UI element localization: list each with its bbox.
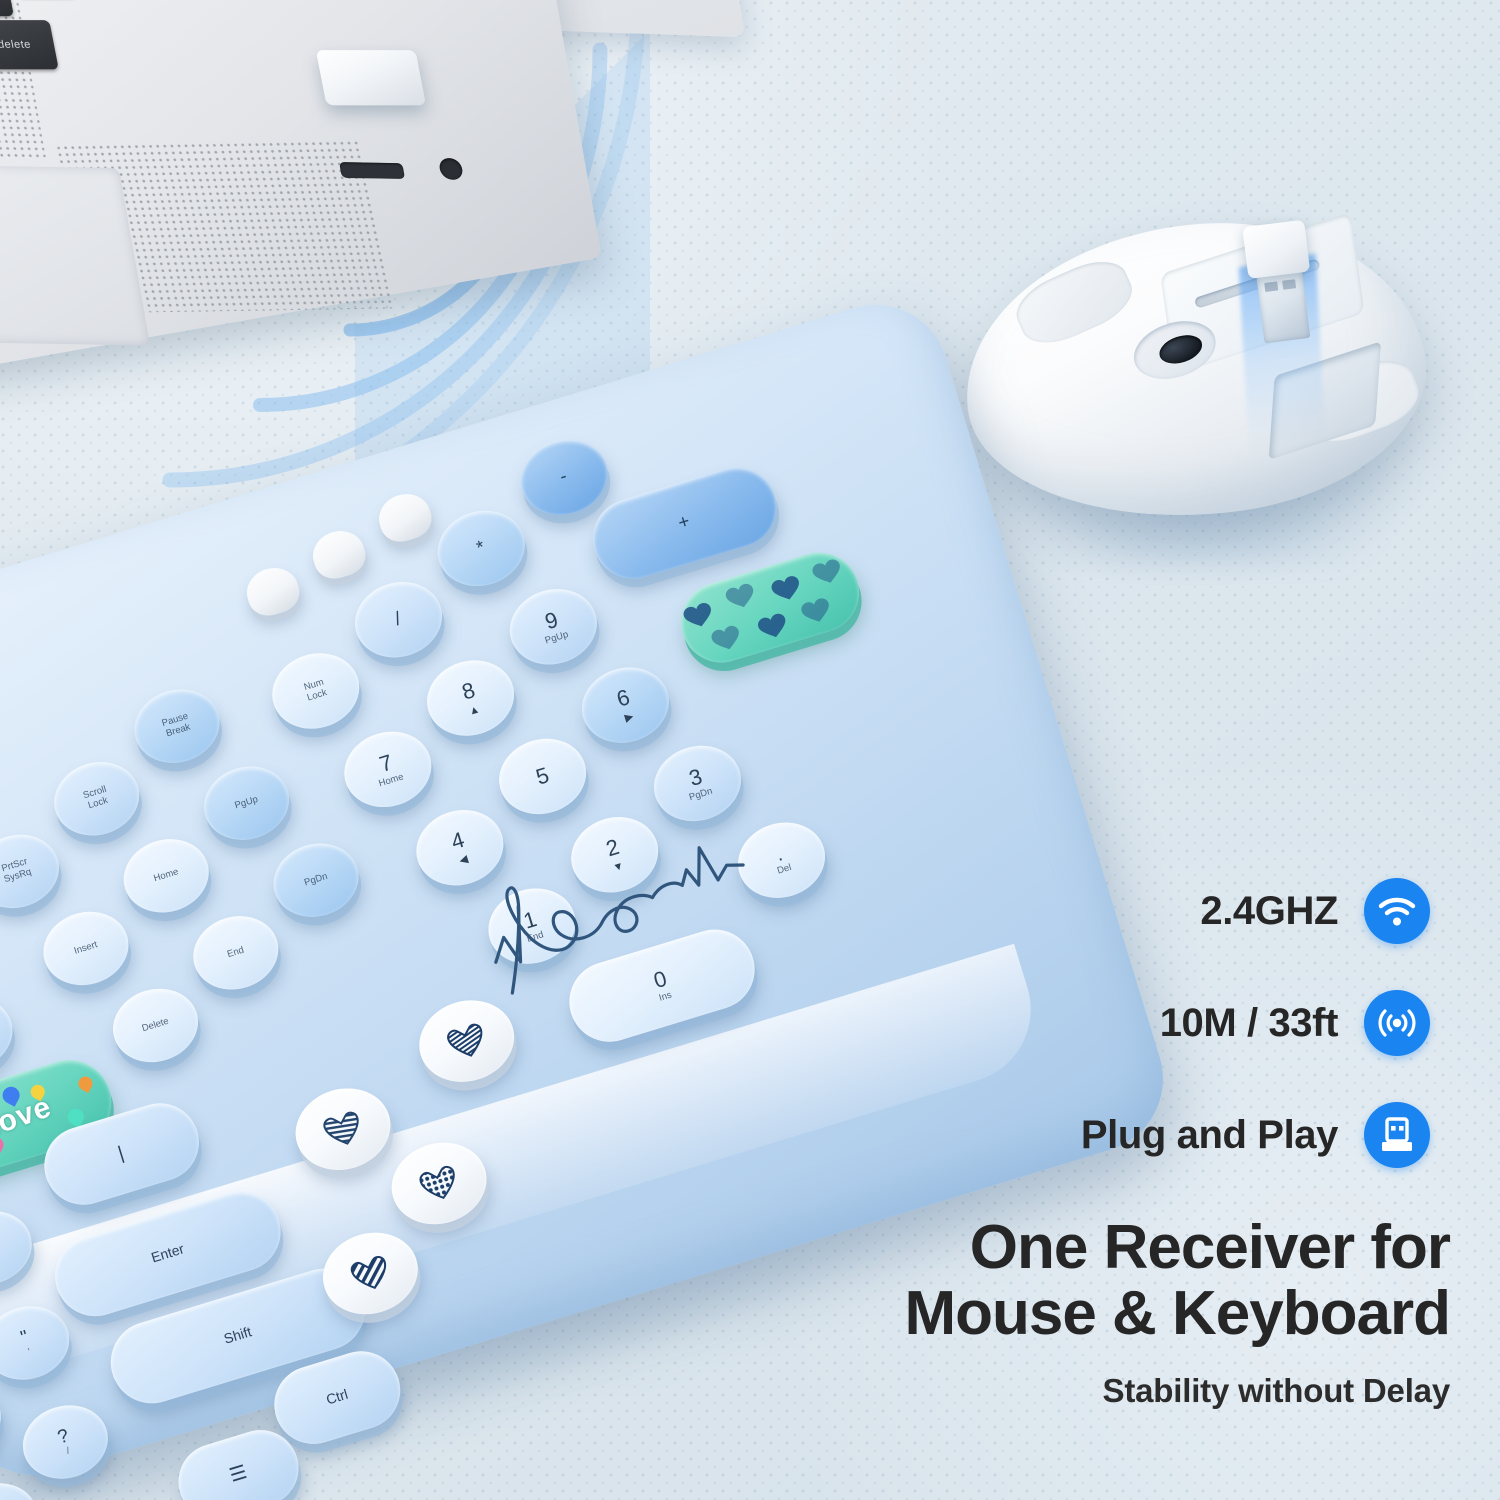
key-delete[interactable]: Delete bbox=[104, 978, 207, 1072]
key-label: Insert bbox=[73, 940, 99, 957]
key-label: 6 bbox=[614, 685, 633, 712]
wifi-icon bbox=[1364, 878, 1430, 944]
key-insert[interactable]: Insert bbox=[34, 901, 137, 995]
key-sublabel: ' bbox=[27, 1348, 32, 1359]
key-prtscr[interactable]: PrtScr SysRq bbox=[0, 824, 68, 918]
feature-list: 2.4GHZ 10M / 33ft bbox=[1010, 855, 1430, 1191]
key-label: " bbox=[18, 1327, 32, 1350]
key-sublabel: / bbox=[66, 1447, 72, 1458]
key-label: 8 bbox=[459, 678, 478, 705]
feature-row-24ghz: 2.4GHZ bbox=[1010, 855, 1430, 967]
usb-receiver-in-laptop[interactable] bbox=[316, 50, 426, 105]
key-home[interactable]: Home bbox=[115, 829, 218, 923]
key-label: Delete bbox=[141, 1016, 170, 1034]
rf-waves-icon bbox=[1364, 990, 1430, 1056]
key-label: - bbox=[557, 466, 570, 488]
feature-label: 2.4GHZ bbox=[1200, 889, 1338, 934]
key-arrow-down-heart[interactable] bbox=[382, 1131, 497, 1236]
headline-line-2: Mouse & Keyboard bbox=[660, 1281, 1450, 1347]
scroll-lock-led-icon bbox=[373, 488, 436, 547]
product-banner: F10 F11 F12 L O P [ ] - = ; ' \ | delete… bbox=[0, 0, 1500, 1500]
laptop-key-delete[interactable]: delete bbox=[0, 20, 59, 69]
menu-icon: ☰ bbox=[227, 1462, 250, 1487]
key-label: PgDn bbox=[303, 872, 329, 889]
key-label: * bbox=[474, 537, 488, 560]
key-sublabel: ▶ bbox=[623, 710, 635, 724]
key-label: Ctrl bbox=[325, 1387, 350, 1408]
key-arrow-up-heart[interactable] bbox=[285, 1077, 400, 1182]
caps-lock-led-icon bbox=[307, 525, 370, 584]
key-numpad-6[interactable]: 6 ▶ bbox=[572, 657, 678, 753]
feature-label: Plug and Play bbox=[1081, 1113, 1338, 1158]
key-brace-right[interactable]: } ] bbox=[0, 1201, 41, 1295]
key-label: | bbox=[116, 1143, 128, 1165]
key-numpad-7[interactable]: 7 Home bbox=[335, 721, 441, 817]
key-label: / bbox=[392, 609, 404, 631]
key-label: Home bbox=[153, 867, 180, 885]
key-sublabel: Del bbox=[776, 863, 793, 877]
key-pause-break[interactable]: Pause Break bbox=[125, 679, 228, 773]
key-numpad-minus[interactable]: - bbox=[511, 429, 617, 525]
num-lock-led-icon bbox=[241, 562, 304, 621]
headline-line-1: One Receiver for bbox=[660, 1215, 1450, 1281]
laptop-headphone-jack[interactable] bbox=[438, 158, 464, 180]
key-pgdn[interactable]: PgDn bbox=[264, 833, 367, 927]
key-numpad-enter-heart[interactable] bbox=[671, 543, 868, 673]
laptop-key-minus[interactable]: - bbox=[0, 0, 14, 16]
usb-receiver-icon bbox=[1364, 1102, 1430, 1168]
key-colon-semicolon[interactable]: : ; bbox=[0, 1373, 10, 1467]
key-num-lock[interactable]: Num Lock bbox=[263, 643, 369, 739]
feature-label: 10M / 33ft bbox=[1160, 1001, 1338, 1046]
headline-subtitle: Stability without Delay bbox=[660, 1372, 1450, 1410]
laptop-port-area bbox=[332, 158, 492, 204]
key-sublabel: ▲ bbox=[467, 703, 481, 718]
key-label: End bbox=[226, 945, 245, 960]
key-numpad-8[interactable]: 8 ▲ bbox=[418, 650, 524, 746]
heart-dotted-icon bbox=[416, 1162, 462, 1206]
key-numpad-5[interactable]: 5 bbox=[490, 728, 596, 824]
key-pgup[interactable]: PgUp bbox=[195, 756, 298, 850]
heart-striped-icon bbox=[320, 1107, 366, 1151]
key-label: + bbox=[676, 511, 694, 535]
key-sublabel: Home bbox=[378, 772, 405, 790]
key-numpad-divide[interactable]: / bbox=[346, 571, 452, 667]
key-scroll-lock[interactable]: Scroll Lock bbox=[45, 752, 148, 846]
heart-diagonal-icon bbox=[347, 1252, 393, 1296]
key-quote[interactable]: " ' bbox=[0, 1296, 78, 1390]
key-label: 5 bbox=[533, 763, 552, 790]
heart-confetti bbox=[76, 1074, 95, 1093]
feature-row-range: 10M / 33ft bbox=[1010, 967, 1430, 1079]
key-sublabel: Ins bbox=[658, 990, 673, 1004]
heart-lined-icon bbox=[444, 1019, 490, 1063]
laptop-usb-c-port[interactable] bbox=[339, 162, 405, 179]
key-numpad-multiply[interactable]: * bbox=[428, 500, 534, 596]
heart-pattern-icon bbox=[671, 543, 868, 673]
key-f12[interactable]: F12 ⎕ bbox=[0, 987, 22, 1081]
key-numpad-9[interactable]: 9 PgUp bbox=[500, 579, 606, 675]
key-label: Shift bbox=[222, 1324, 253, 1347]
key-end[interactable]: End bbox=[184, 906, 287, 1000]
headline-block: One Receiver for Mouse & Keyboard Stabil… bbox=[660, 1215, 1450, 1410]
key-label: Enter bbox=[150, 1241, 187, 1266]
key-label: PgUp bbox=[234, 795, 260, 812]
key-label: ? bbox=[55, 1425, 72, 1449]
usb-plastic-cap bbox=[1242, 220, 1310, 279]
feature-row-plug-play: Plug and Play bbox=[1010, 1079, 1430, 1191]
